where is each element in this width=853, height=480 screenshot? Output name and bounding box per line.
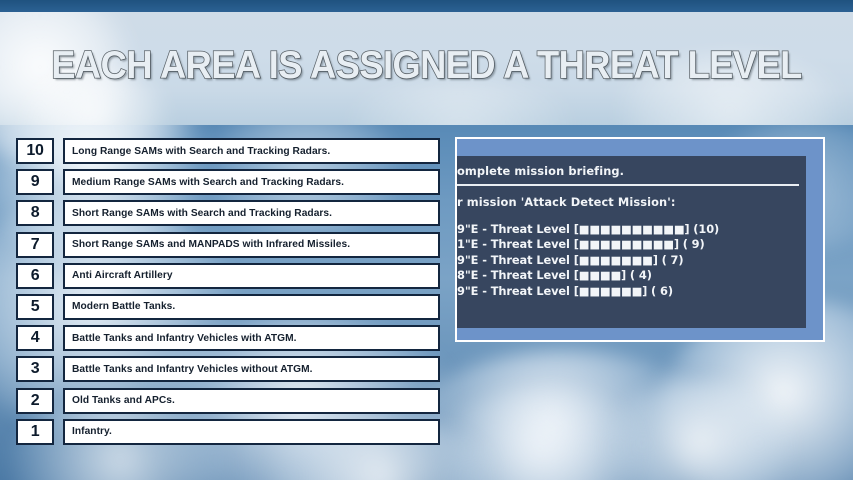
threat-level-description: Old Tanks and APCs. [63, 388, 440, 414]
threat-level-description: Modern Battle Tanks. [63, 294, 440, 320]
threat-readout-line: 9"E - Threat Level [■■■■■■■■■■] (10) [457, 222, 719, 237]
readout-coordinate: 1"E [457, 237, 478, 251]
page-title: EACH AREA IS ASSIGNED A THREAT LEVEL [30, 44, 823, 88]
briefing-divider [457, 184, 799, 186]
readout-threat-bar: [■■■■■■■■■] [574, 237, 679, 251]
readout-label: Threat Level [491, 268, 570, 282]
threat-level-number: 3 [16, 356, 54, 382]
threat-level-number: 8 [16, 200, 54, 226]
readout-coordinate: 8"E [457, 268, 478, 282]
threat-readout-lines: 9"E - Threat Level [■■■■■■■■■■] (10)1"E … [457, 222, 719, 299]
threat-level-row: 6Anti Aircraft Artillery [16, 263, 440, 289]
threat-level-number: 7 [16, 232, 54, 258]
readout-threat-bar: [■■■■■■] [574, 284, 647, 298]
briefing-subheader: r mission 'Attack Detect Mission': [457, 195, 676, 209]
readout-threat-value: ( 9) [683, 237, 705, 251]
readout-threat-bar: [■■■■] [574, 268, 626, 282]
threat-level-row: 5Modern Battle Tanks. [16, 294, 440, 320]
readout-coordinate: 9"E [457, 222, 478, 236]
readout-label: Threat Level [491, 237, 570, 251]
threat-level-description: Short Range SAMs with Search and Trackin… [63, 200, 440, 226]
briefing-terminal: omplete mission briefing. r mission 'Att… [457, 156, 806, 328]
threat-level-row: 10Long Range SAMs with Search and Tracki… [16, 138, 440, 164]
threat-level-row: 3Battle Tanks and Infantry Vehicles with… [16, 356, 440, 382]
readout-label: Threat Level [491, 222, 570, 236]
threat-level-row: 8Short Range SAMs with Search and Tracki… [16, 200, 440, 226]
briefing-header: omplete mission briefing. [457, 164, 624, 178]
readout-threat-value: ( 4) [630, 268, 652, 282]
threat-readout-line: 8"E - Threat Level [■■■■] ( 4) [457, 268, 719, 283]
cloud-shape [330, 82, 590, 125]
threat-level-number: 5 [16, 294, 54, 320]
threat-level-number: 6 [16, 263, 54, 289]
readout-threat-value: (10) [693, 222, 719, 236]
threat-level-description: Short Range SAMs and MANPADS with Infrar… [63, 232, 440, 258]
readout-label: Threat Level [491, 253, 570, 267]
readout-coordinate: 9"E [457, 284, 478, 298]
readout-threat-bar: [■■■■■■■■■■] [574, 222, 690, 236]
threat-level-description: Infantry. [63, 419, 440, 445]
top-accent-bar [0, 0, 853, 12]
readout-label: Threat Level [491, 284, 570, 298]
threat-level-row: 2Old Tanks and APCs. [16, 388, 440, 414]
readout-threat-value: ( 6) [651, 284, 673, 298]
threat-level-row: 1Infantry. [16, 419, 440, 445]
threat-level-number: 4 [16, 325, 54, 351]
threat-level-row: 4Battle Tanks and Infantry Vehicles with… [16, 325, 440, 351]
threat-level-description: Battle Tanks and Infantry Vehicles with … [63, 325, 440, 351]
threat-level-description: Anti Aircraft Artillery [63, 263, 440, 289]
readout-coordinate: 9"E [457, 253, 478, 267]
threat-readout-line: 9"E - Threat Level [■■■■■■] ( 6) [457, 284, 719, 299]
threat-level-description: Medium Range SAMs with Search and Tracki… [63, 169, 440, 195]
threat-level-number: 9 [16, 169, 54, 195]
threat-level-number: 10 [16, 138, 54, 164]
readout-threat-bar: [■■■■■■■] [574, 253, 658, 267]
threat-level-number: 2 [16, 388, 54, 414]
threat-readout-line: 1"E - Threat Level [■■■■■■■■■] ( 9) [457, 237, 719, 252]
threat-level-row: 9Medium Range SAMs with Search and Track… [16, 169, 440, 195]
mission-briefing-panel: omplete mission briefing. r mission 'Att… [455, 137, 825, 342]
slide: EACH AREA IS ASSIGNED A THREAT LEVEL 10L… [0, 0, 853, 480]
threat-level-list: 10Long Range SAMs with Search and Tracki… [16, 138, 440, 450]
threat-readout-line: 9"E - Threat Level [■■■■■■■] ( 7) [457, 253, 719, 268]
threat-level-description: Long Range SAMs with Search and Tracking… [63, 138, 440, 164]
threat-level-number: 1 [16, 419, 54, 445]
threat-level-description: Battle Tanks and Infantry Vehicles witho… [63, 356, 440, 382]
threat-level-row: 7Short Range SAMs and MANPADS with Infra… [16, 232, 440, 258]
readout-threat-value: ( 7) [662, 253, 684, 267]
